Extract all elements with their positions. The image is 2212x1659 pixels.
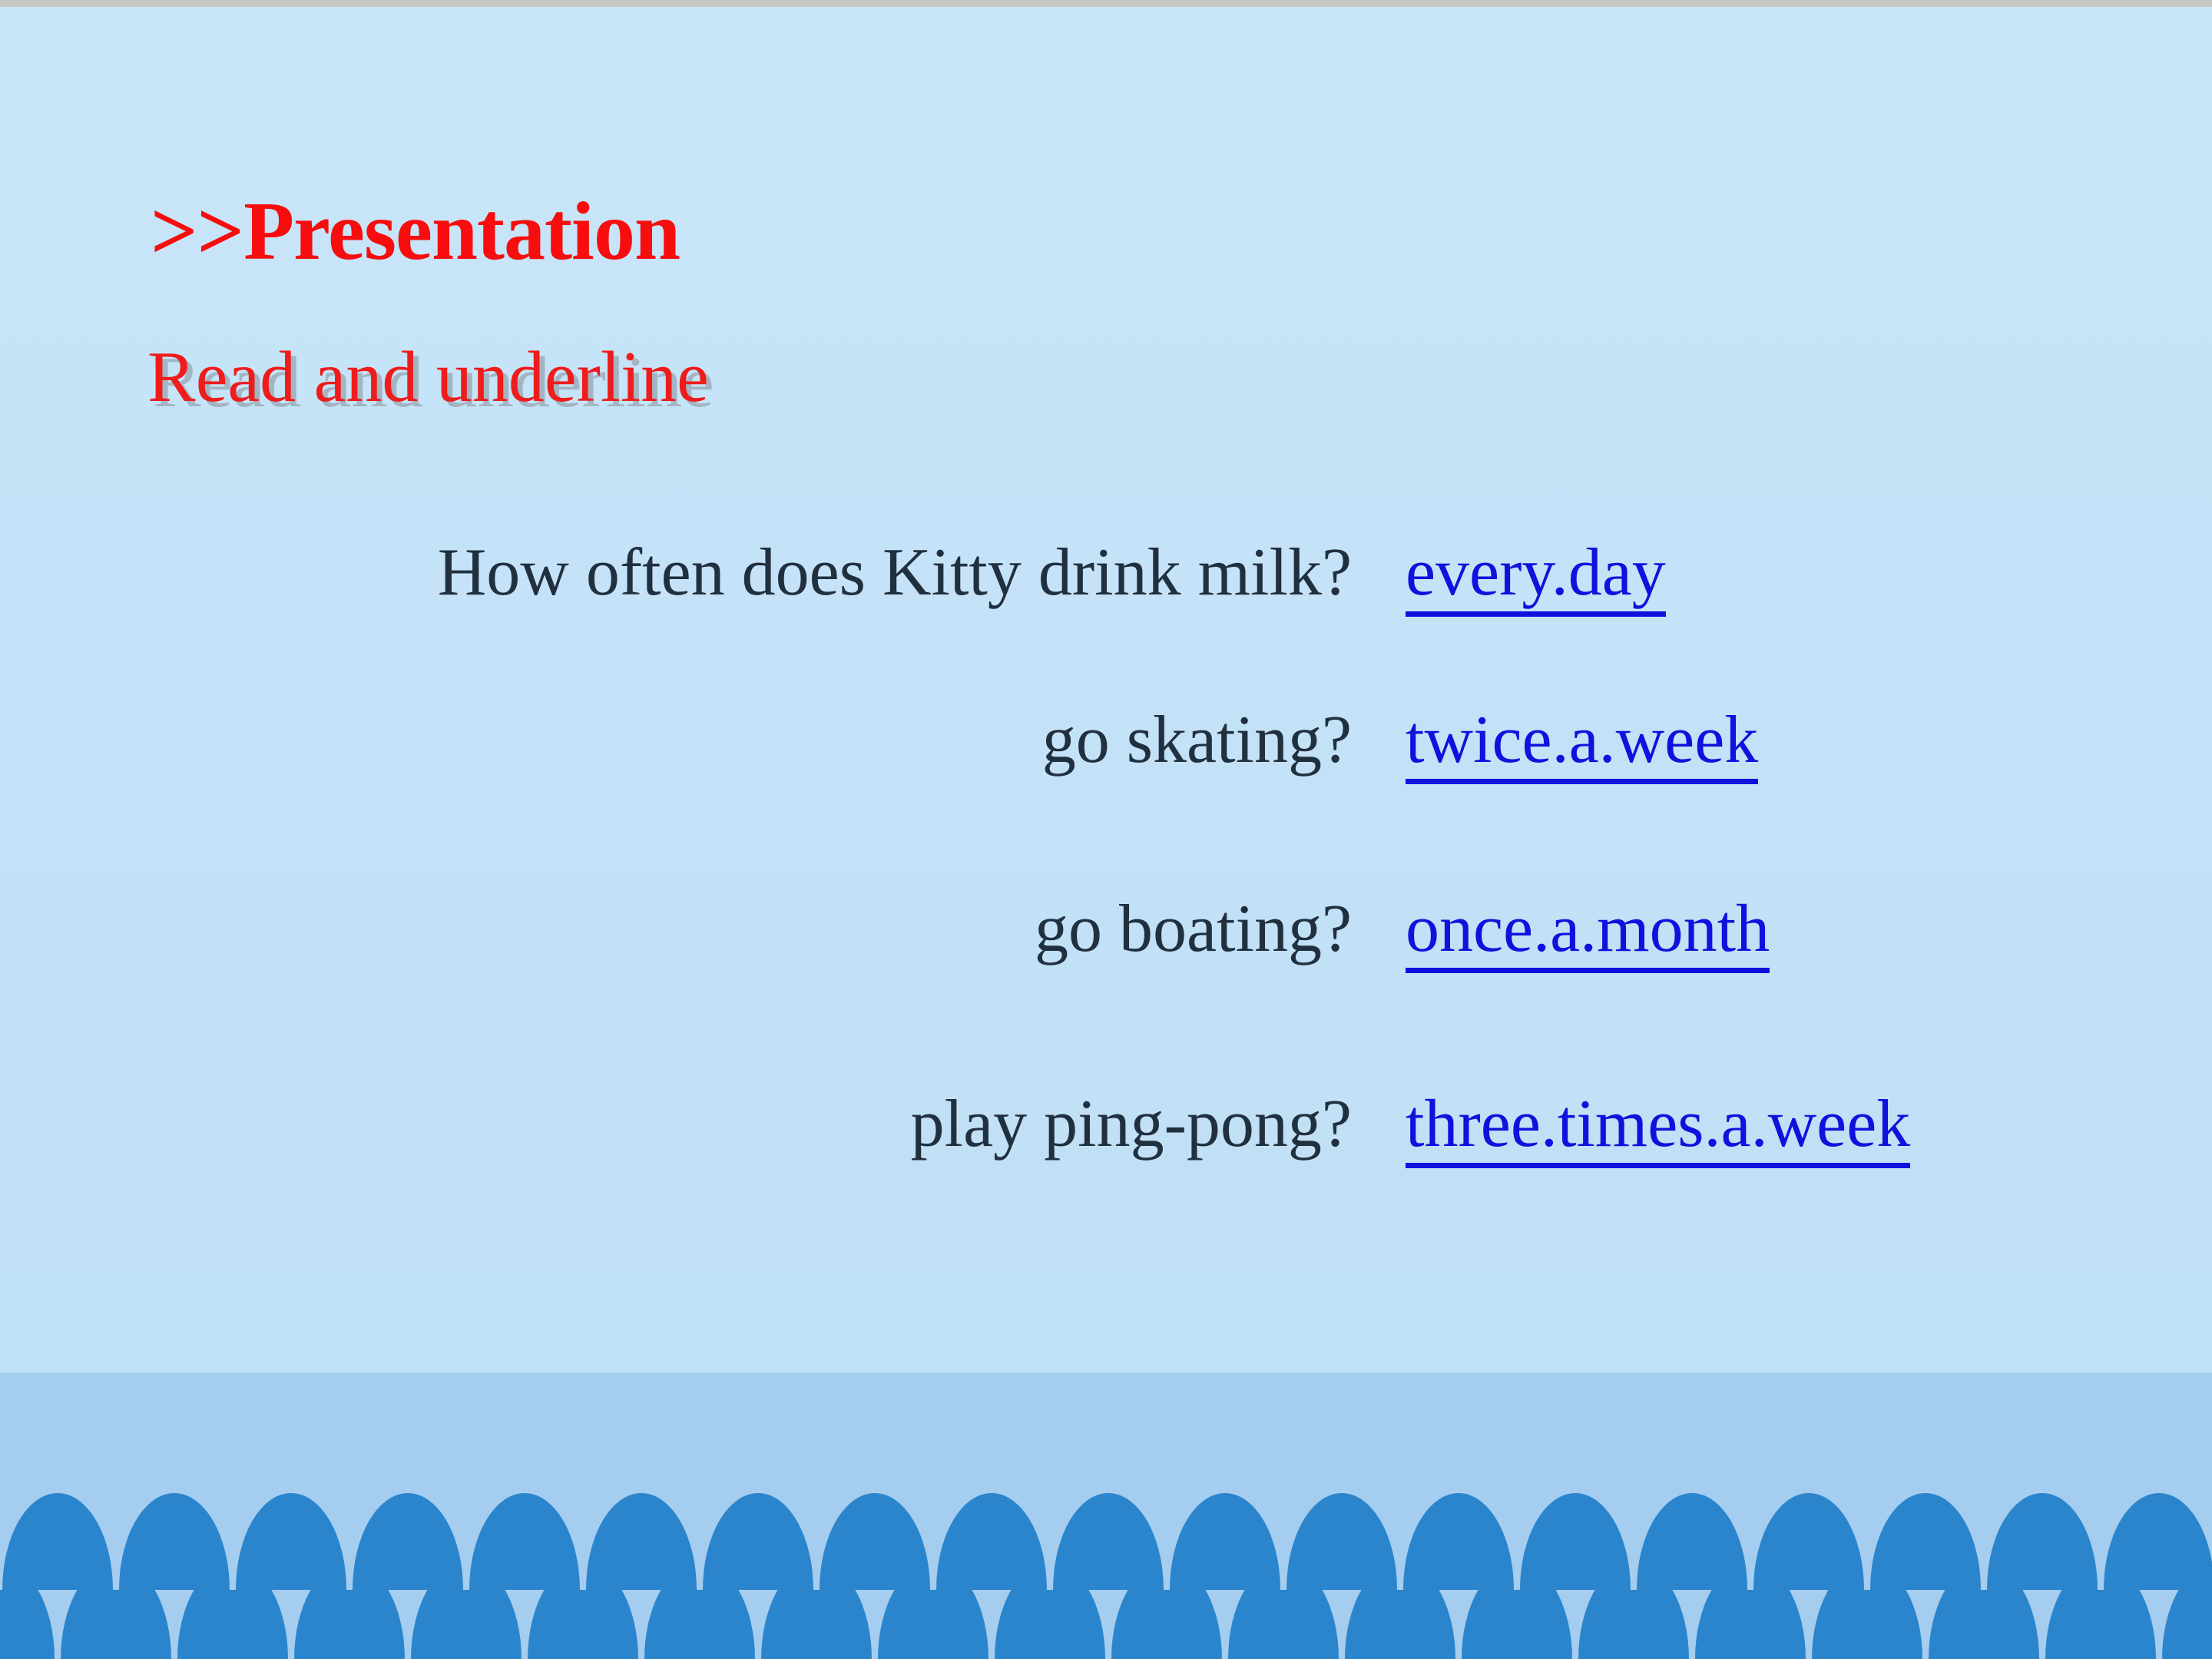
top-edge-strip (0, 0, 2212, 7)
qa-row: play ping-pong? three.times.a.week (0, 1089, 2212, 1281)
qa-row: go boating? once.a.month (0, 894, 2212, 1089)
question-text: play ping-pong? (0, 1089, 1352, 1160)
page-title: >>Presentation (151, 190, 680, 273)
question-answer-list: How often does Kitty drink milk? every.d… (0, 538, 2212, 1281)
answer-cell: twice.a.week (1406, 705, 1758, 776)
question-text: How often does Kitty drink milk? (0, 538, 1352, 608)
subtitle-instruction: Read and underline (147, 341, 709, 413)
scallop-row-front (0, 1590, 2212, 1659)
answer-cell: once.a.month (1406, 894, 1770, 965)
answer-text[interactable]: every.day (1406, 535, 1666, 617)
question-text: go boating? (0, 894, 1352, 965)
answer-cell: every.day (1406, 538, 1666, 608)
answer-text[interactable]: once.a.month (1406, 892, 1770, 973)
qa-row: go skating? twice.a.week (0, 705, 2212, 894)
answer-cell: three.times.a.week (1406, 1089, 1910, 1160)
answer-text[interactable]: twice.a.week (1406, 703, 1758, 784)
presentation-slide: >>Presentation Read and underline How of… (0, 0, 2212, 1659)
qa-row: How often does Kitty drink milk? every.d… (0, 538, 2212, 705)
question-text: go skating? (0, 705, 1352, 776)
scallop-row-back (0, 1492, 2212, 1590)
answer-text[interactable]: three.times.a.week (1406, 1087, 1910, 1168)
